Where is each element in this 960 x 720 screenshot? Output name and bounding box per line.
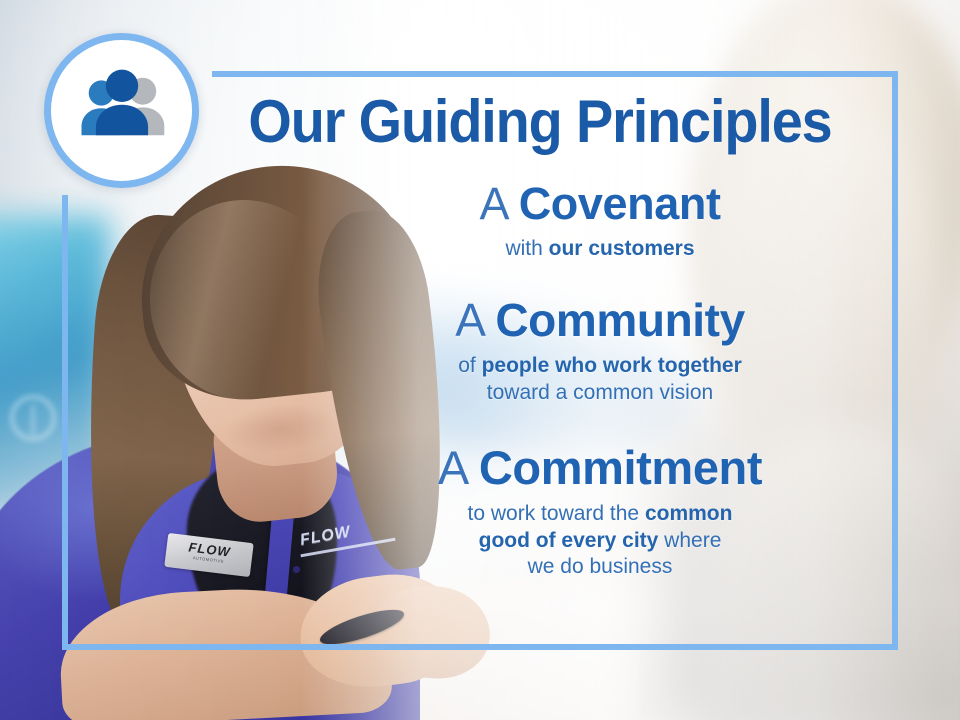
principle-commitment: A Commitment to work toward the commongo… xyxy=(300,443,900,581)
page-title: Our Guiding Principles xyxy=(224,92,856,152)
subtext-line: of people who work together xyxy=(300,353,900,380)
people-group-badge xyxy=(44,33,199,188)
principle-subtext: with our customers xyxy=(300,236,900,263)
subtext-line: toward a common vision xyxy=(300,380,900,407)
subtext-plain: where xyxy=(658,529,721,552)
principle-community: A Community of people who work togethert… xyxy=(300,296,900,406)
vw-logo-blur xyxy=(10,395,56,441)
principle-article: A xyxy=(438,441,466,494)
principle-subtext: of people who work togethertoward a comm… xyxy=(300,353,900,407)
polo-button-2 xyxy=(293,566,300,573)
principle-word: Commitment xyxy=(479,441,762,494)
principle-article: A xyxy=(455,294,483,346)
subtext-line: to work toward the common xyxy=(300,501,900,528)
subtext-plain: of xyxy=(458,354,481,377)
subtext-emphasis: people who work together xyxy=(482,354,742,377)
principle-heading: A Covenant xyxy=(300,180,900,229)
principle-covenant: A Covenant with our customers xyxy=(300,180,900,262)
subtext-emphasis: common xyxy=(645,502,733,525)
subtext-line: good of every city where xyxy=(300,528,900,555)
subtext-line: we do business xyxy=(300,554,900,581)
subtext-emphasis: our customers xyxy=(549,237,695,260)
principles-list: A Covenant with our customers A Communit… xyxy=(300,180,900,587)
subtext-emphasis: good of every city xyxy=(479,529,659,552)
principle-word: Covenant xyxy=(519,178,721,229)
principle-heading: A Commitment xyxy=(300,443,900,494)
banner-root: FLOW AUTOMOTIVE FLOW Our Guiding Pr xyxy=(0,0,960,720)
principle-article: A xyxy=(479,178,506,229)
subtext-plain: we do business xyxy=(528,555,673,578)
subtext-plain: to work toward the xyxy=(468,502,645,525)
subtext-plain: with xyxy=(505,237,548,260)
principle-heading: A Community xyxy=(300,296,900,346)
people-group-icon xyxy=(68,57,176,165)
principle-subtext: to work toward the commongood of every c… xyxy=(300,501,900,582)
subtext-line: with our customers xyxy=(300,236,900,263)
subtext-plain: toward a common vision xyxy=(487,381,713,404)
principle-word: Community xyxy=(495,294,744,346)
